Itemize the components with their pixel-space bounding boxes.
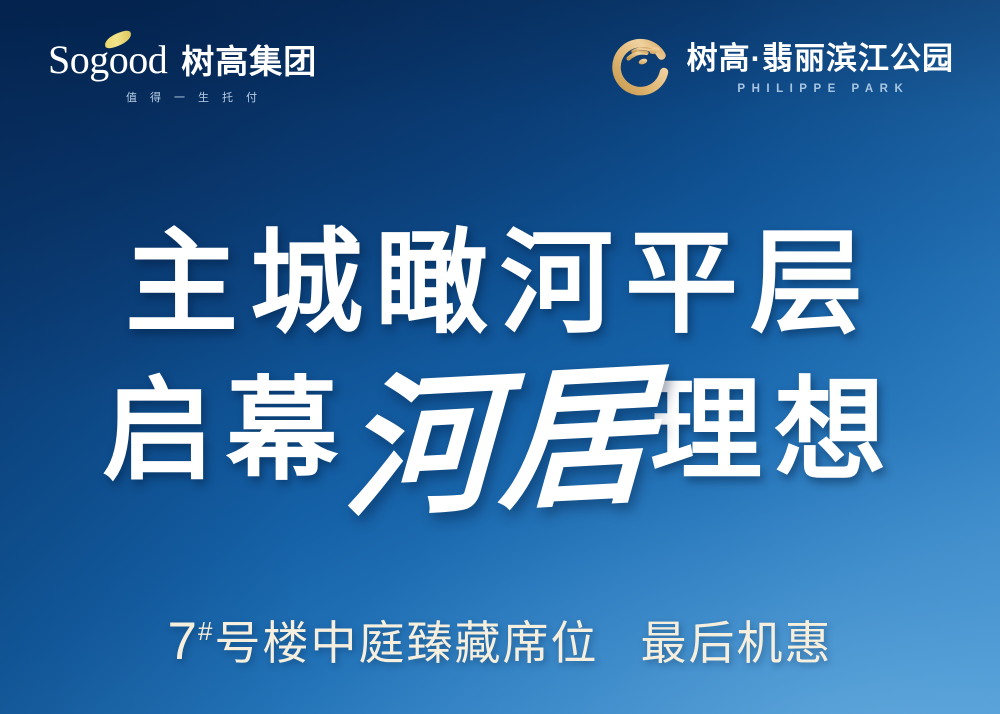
building-number: 7	[168, 615, 197, 668]
hash-mark: #	[198, 618, 212, 644]
strapline-secondary-text: 最后机惠	[640, 620, 832, 666]
sogood-wordmark: Sogood	[48, 40, 167, 80]
sogood-name-cn: 树高集团	[181, 45, 317, 78]
park-name-cn: 树高·翡丽滨江公园	[687, 43, 954, 76]
brand-lockup-philippe-park: 树高·翡丽滨江公园 PHILIPPE PARK	[612, 38, 954, 100]
brand-lockup-sogood: Sogood 树高集团 值得一生托付	[48, 40, 317, 105]
park-name-block: 树高·翡丽滨江公园 PHILIPPE PARK	[687, 43, 954, 95]
strapline-block: 7 # 号楼中庭臻藏席位 最后机惠	[0, 615, 1000, 668]
crescent-wave-emblem-icon	[612, 38, 674, 100]
sogood-tagline: 值得一生托付	[126, 89, 270, 105]
headline-line-2-part-3: 理想	[650, 376, 898, 488]
poster-header: Sogood 树高集团 值得一生托付	[0, 0, 1000, 130]
park-name-en: PHILIPPE PARK	[731, 83, 909, 95]
strapline-main-text: 号楼中庭臻藏席位	[214, 620, 598, 666]
brand-left-row: Sogood 树高集团	[48, 40, 317, 80]
headline-line-2: 启幕 河居 理想	[0, 356, 1000, 508]
headline-line-2-part-2-calligraphy: 河居	[342, 360, 659, 529]
headline-block: 主城瞰河平层 启幕 河居 理想	[0, 214, 1000, 508]
headline-line-1: 主城瞰河平层	[0, 214, 1000, 354]
promotional-poster: Sogood 树高集团 值得一生托付	[0, 0, 1000, 714]
headline-line-2-part-1: 启幕	[102, 376, 350, 488]
headline-line-1-text: 主城瞰河平层	[125, 228, 875, 341]
